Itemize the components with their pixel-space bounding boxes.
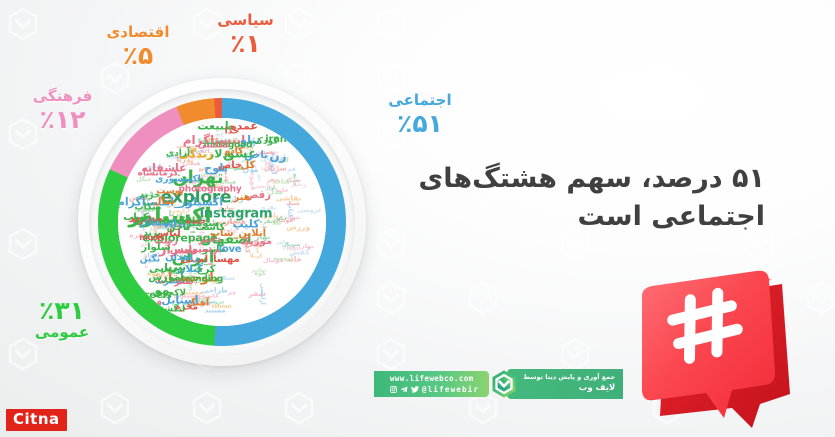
legend-political-name: سیاسی <box>198 12 293 28</box>
word-cloud-term: trending <box>181 276 223 285</box>
lifeweb-credit-line-2: لایف وب <box>523 383 615 394</box>
word-cloud-term: قم <box>287 167 296 173</box>
word-cloud-term: طلا <box>272 221 281 227</box>
word-cloud-term: دختر <box>199 235 222 245</box>
word-cloud-term: کرمانشاه <box>137 170 178 179</box>
word-cloud-term: کل <box>241 161 256 171</box>
word-cloud-term: آرایشی <box>258 283 264 305</box>
word-cloud-term: خنده <box>186 218 207 227</box>
hashtag-speech-bubble-icon <box>628 262 828 437</box>
word-cloud-term: آموزش <box>148 273 183 283</box>
word-cloud-term: نگین <box>140 256 160 265</box>
word-cloud-term: عروسی <box>297 208 322 214</box>
legend-label-political: سیاسی ٪۱ <box>198 12 293 57</box>
word-cloud-term: سریال <box>282 244 300 250</box>
word-cloud-term: موزیک <box>240 237 272 247</box>
word-cloud-term: جنگل <box>136 178 151 184</box>
word-cloud-term: خرید <box>140 192 161 201</box>
word-cloud: صبحشبپاییزبهارجنگلدریاکوهفوتبالورزشسریال… <box>118 118 326 326</box>
word-cloud-term: کربلا <box>250 255 263 261</box>
headline-line-1: ۵۱ درصد، سهم هشتگ‌های <box>405 160 765 198</box>
legend-label-social: اجتماعی ٪۵۱ <box>370 92 470 137</box>
word-cloud-term: کرج <box>196 265 215 275</box>
word-cloud-term: بلوج <box>204 163 227 174</box>
lifeweb-site-panel[interactable]: www.lifewebco.com @lifewebir <box>374 371 489 397</box>
legend-general-pct: ٪۳۱ <box>8 297 116 324</box>
word-cloud-term: قهوه <box>249 172 257 191</box>
word-cloud-term: music <box>139 234 164 242</box>
word-cloud-term: شیک <box>286 202 300 208</box>
word-cloud-term: کتاب <box>274 179 290 186</box>
lifeweb-credit-badge: جمع آوری و پایش دیتا توسط لایف وب <box>386 369 623 399</box>
legend-economic-name: اقتصادی <box>88 24 188 40</box>
headline: ۵۱ درصد، سهم هشتگ‌های اجتماعی است <box>405 160 765 237</box>
word-cloud-term: love <box>219 245 242 255</box>
word-cloud-term: photography <box>179 186 242 195</box>
lifeweb-website-url[interactable]: www.lifewebco.com <box>390 374 479 383</box>
legend-social-pct: ٪۵۱ <box>370 110 470 137</box>
twitter-icon[interactable] <box>411 386 419 393</box>
word-cloud-term: زنجیر <box>291 183 307 189</box>
word-cloud-term: ارومیه <box>273 256 293 262</box>
word-cloud-term: انگشتر <box>155 306 185 315</box>
citna-logo[interactable]: Citna <box>6 409 67 431</box>
word-cloud-term: لاکچری <box>154 290 186 299</box>
lifeweb-social-row: @lifewebir <box>390 385 479 394</box>
lifeweb-logo-icon <box>489 369 519 399</box>
lifeweb-credit-text: جمع آوری و پایش دیتا توسط لایف وب <box>507 369 623 398</box>
word-cloud-term: کودک <box>254 138 279 147</box>
word-cloud-term: خانه <box>276 188 288 194</box>
legend-political-pct: ٪۱ <box>198 30 293 57</box>
legend-label-cultural: فرهنگی ٪۱۲ <box>10 88 115 133</box>
telegram-icon[interactable] <box>400 386 408 393</box>
word-cloud-term: بهار <box>301 243 313 249</box>
donut-chart: صبحشبپاییزبهارجنگلدریاکوهفوتبالورزشسریال… <box>78 78 366 366</box>
word-cloud-term: ورزش <box>286 223 310 231</box>
word-cloud-term: پوست <box>156 188 183 197</box>
instagram-icon[interactable] <box>390 386 397 393</box>
word-cloud-term: جنگل <box>261 162 280 169</box>
legend-label-general: ٪۳۱ عمومی <box>8 295 116 340</box>
word-cloud-term: پاییز <box>252 268 264 273</box>
legend-label-economic: اقتصادی ٪۵ <box>88 24 188 69</box>
lifeweb-credit-line-1: جمع آوری و پایش دیتا توسط <box>523 373 615 382</box>
word-cloud-term: قم <box>228 291 236 296</box>
word-cloud-term: پرسپولیس <box>170 245 222 255</box>
legend-general-name: عمومی <box>8 324 116 340</box>
legend-social-name: اجتماعی <box>370 92 470 108</box>
legend-cultural-pct: ٪۱۲ <box>10 106 115 133</box>
word-cloud-term: کراب <box>123 213 149 223</box>
headline-line-2: اجتماعی است <box>405 198 765 236</box>
infographic-canvas: صبحشبپاییزبهارجنگلدریاکوهفوتبالورزشسریال… <box>0 0 835 437</box>
word-cloud-term: آزادی <box>166 150 190 159</box>
word-cloud-term: زن <box>269 150 286 162</box>
lifeweb-handle[interactable]: @lifewebir <box>422 385 479 394</box>
word-cloud-term: هنر <box>233 193 250 203</box>
word-cloud-term: عکاسی <box>198 142 231 151</box>
word-cloud-term: خدا <box>225 128 240 137</box>
legend-economic-pct: ٪۵ <box>88 42 188 69</box>
legend-cultural-name: فرهنگی <box>10 88 115 104</box>
citna-logo-text: Citna <box>13 412 60 427</box>
word-cloud-term: مستند <box>205 308 226 315</box>
